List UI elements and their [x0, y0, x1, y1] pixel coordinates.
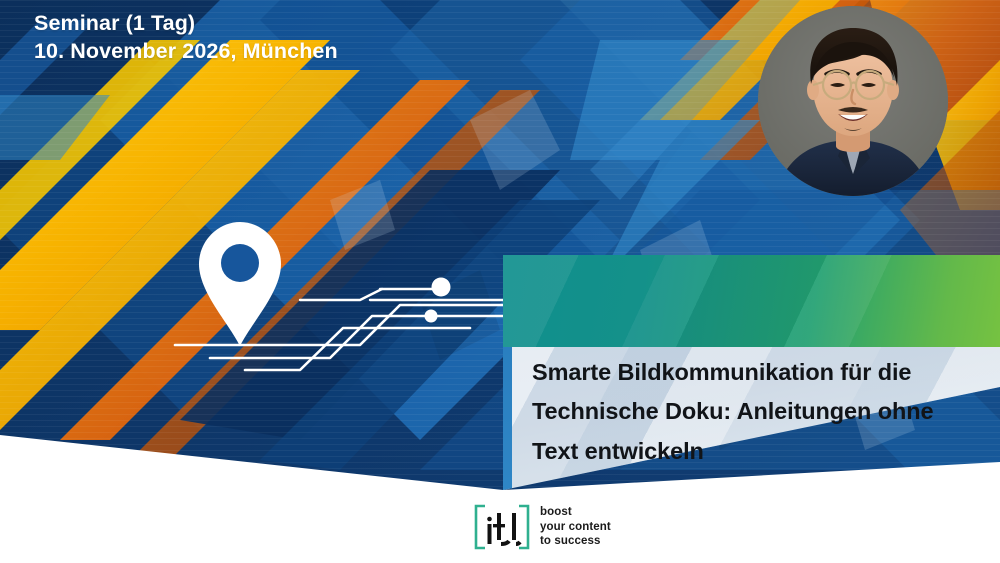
seminar-date-location: 10. November 2026, München — [34, 38, 338, 66]
title-line-2: Technische Doku: Anleitungen ohne — [532, 392, 1000, 431]
banner-root: Seminar (1 Tag) 10. November 2026, Münch… — [0, 0, 1000, 563]
band-sheen — [503, 255, 1000, 347]
seminar-info-band — [503, 255, 1000, 347]
tagline-line-3: to success — [540, 534, 611, 549]
seminar-info-text: Seminar (1 Tag) 10. November 2026, Münch… — [34, 10, 338, 65]
seminar-format: Seminar (1 Tag) — [34, 10, 338, 38]
itl-tagline: boost your content to success — [540, 505, 611, 549]
tagline-line-2: your content — [540, 520, 611, 535]
title-line-3: Text entwickeln — [532, 432, 1000, 471]
title-line-1: Smarte Bildkommunikation für die — [532, 353, 1000, 392]
itl-wordmark-mark — [473, 503, 531, 551]
seminar-title: Smarte Bildkommunikation für die Technis… — [503, 353, 1000, 471]
itl-logo: boost your content to success — [473, 503, 611, 551]
tagline-line-1: boost — [540, 505, 611, 520]
speaker-portrait — [758, 6, 948, 196]
